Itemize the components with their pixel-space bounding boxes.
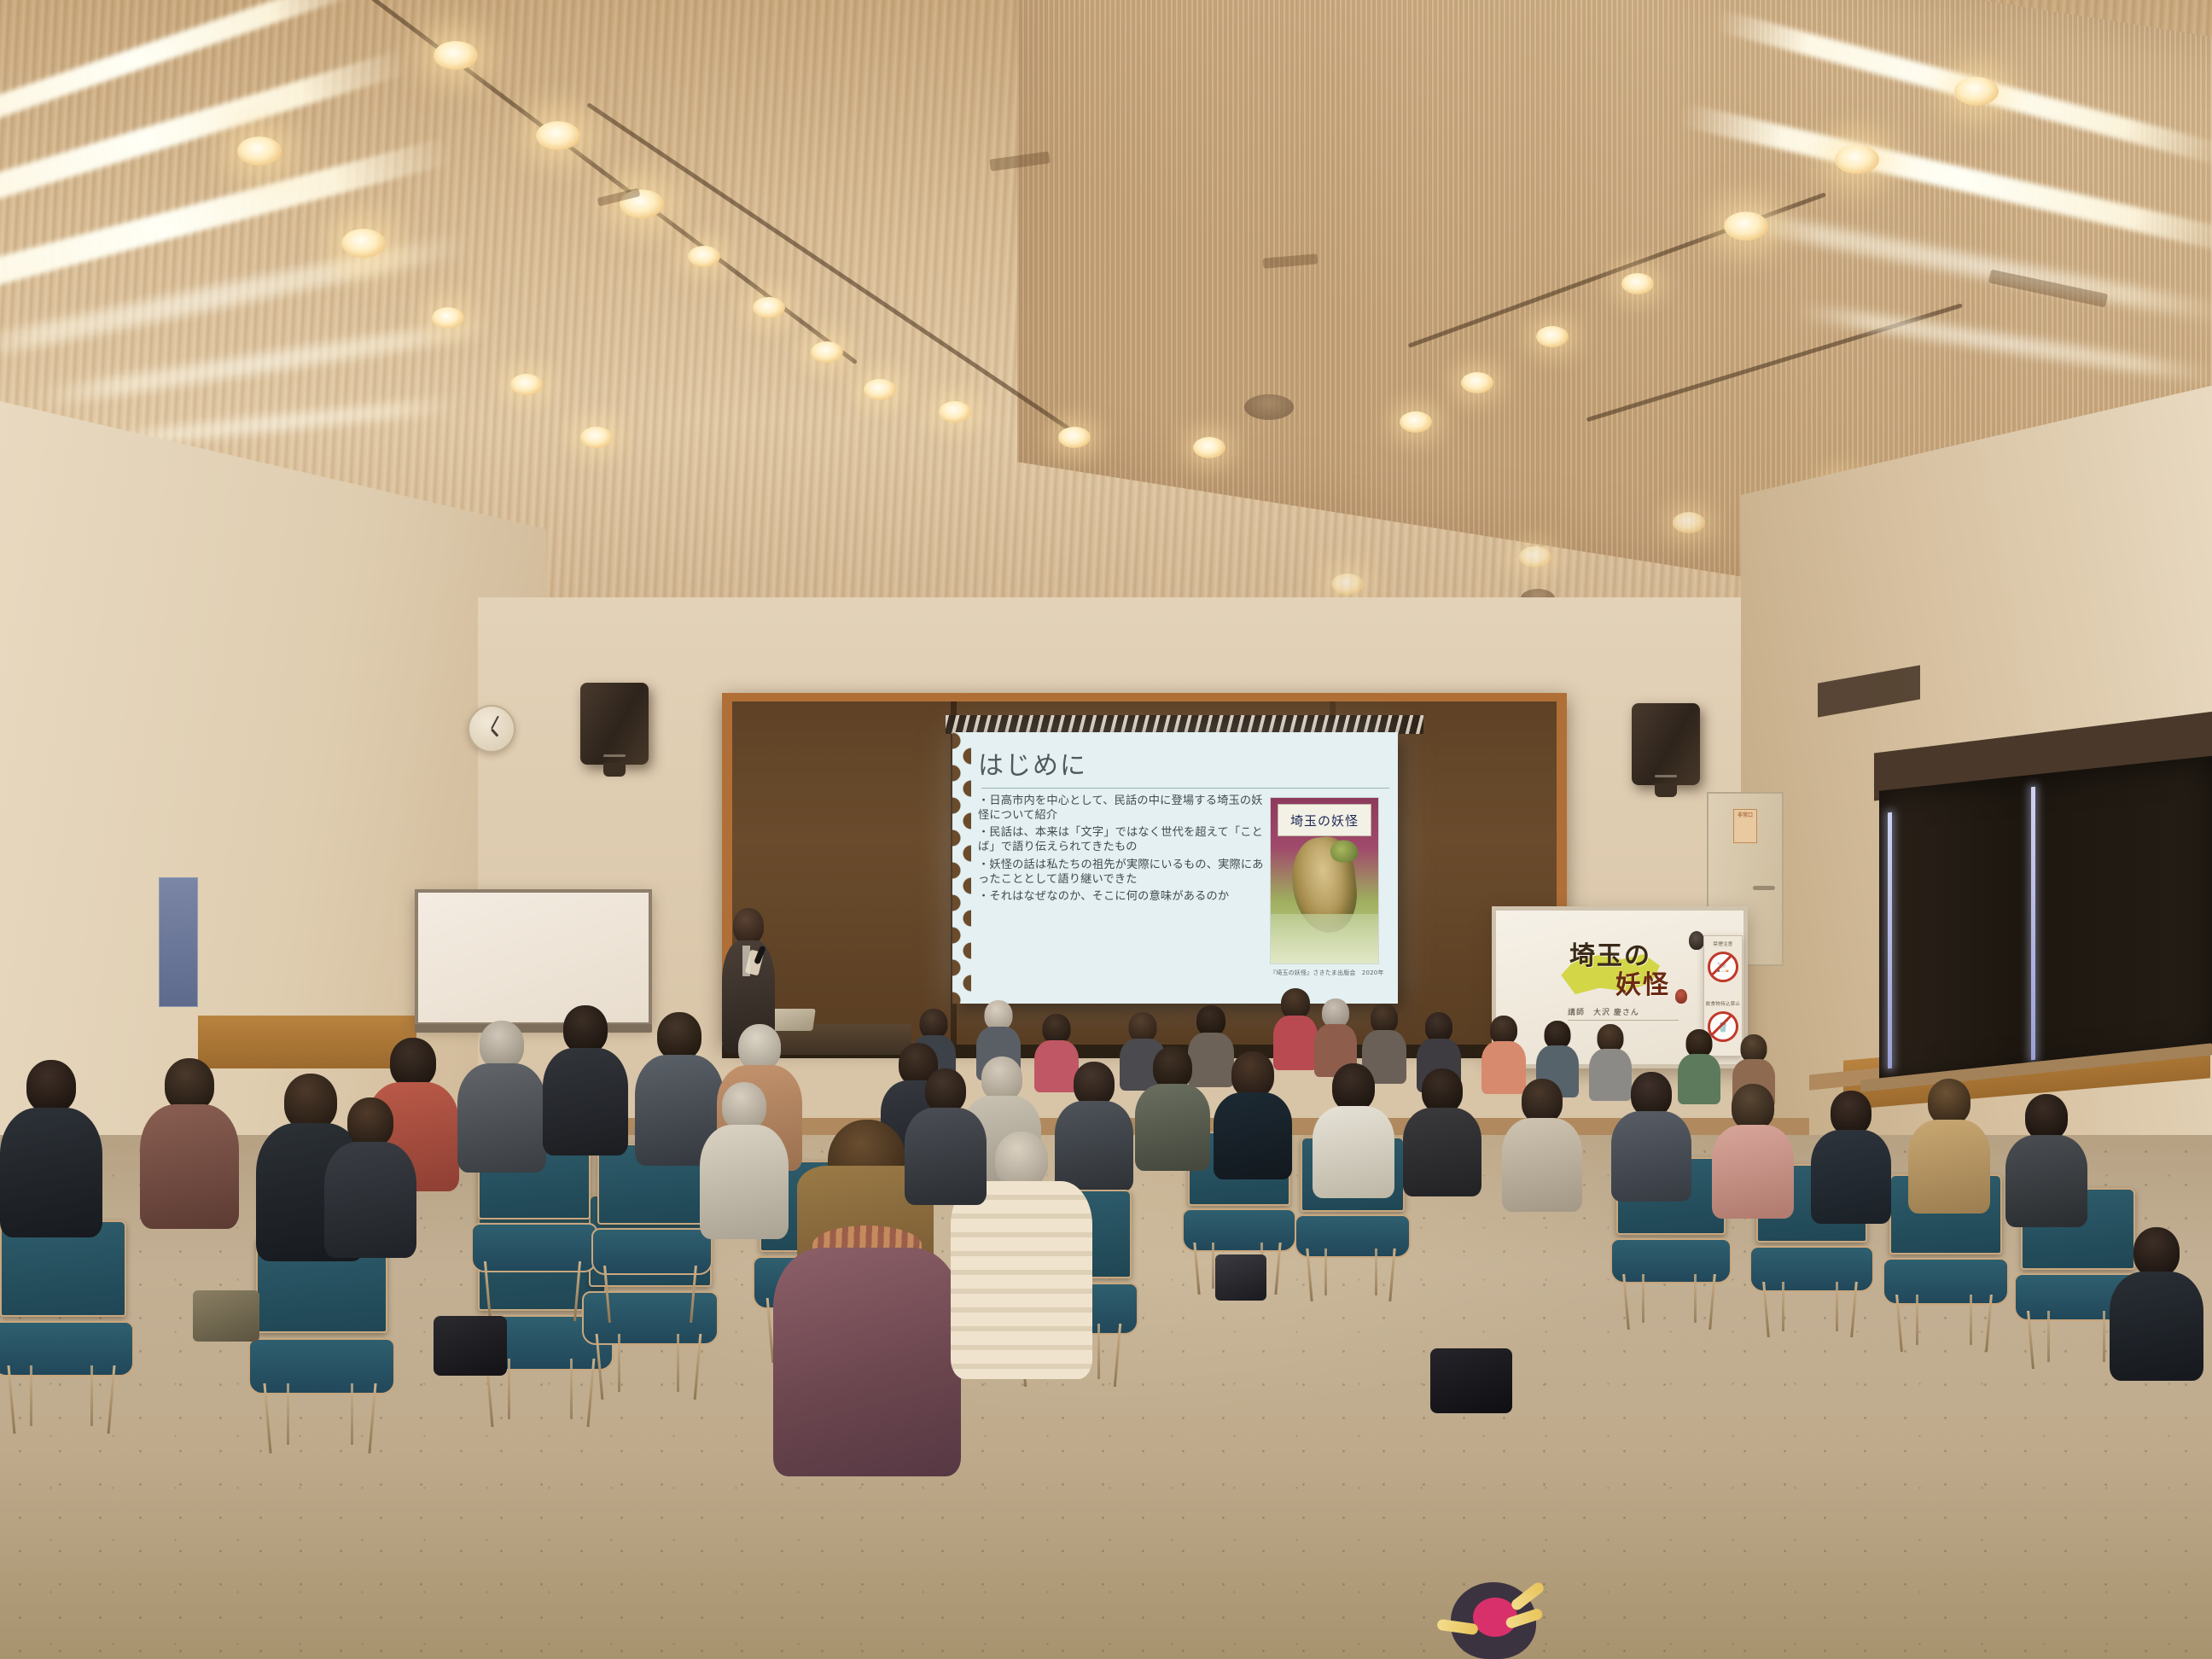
- downlight: [753, 297, 785, 318]
- blue-wall-panel: [159, 877, 198, 1007]
- wall-clock: [468, 705, 515, 753]
- floor-bag: [193, 1290, 259, 1342]
- wall-speaker-left: [580, 683, 649, 765]
- downlight: [1954, 77, 1999, 106]
- downlight: [1673, 512, 1705, 533]
- banner-figure-icon: [1675, 989, 1687, 1004]
- floor-bag: [1215, 1254, 1266, 1301]
- floor-bag: [1430, 1348, 1512, 1413]
- purple-padded-coat: [773, 1248, 961, 1476]
- downlight: [237, 137, 282, 166]
- audience-member: [1712, 1084, 1794, 1219]
- presenter-head: [733, 908, 764, 944]
- window-light-gap: [2031, 787, 2035, 1061]
- audience-member: [1611, 1072, 1691, 1202]
- banner-subtitle: 講師 大沢 慶さん: [1568, 1006, 1679, 1021]
- downlight: [1400, 411, 1432, 433]
- slide-book-figure: 埼玉の妖怪 『埼玉の妖怪』さきたま出版会 2020年: [1270, 794, 1389, 977]
- downlight: [688, 246, 720, 267]
- window-curtain[interactable]: [1879, 755, 2212, 1089]
- downlight: [1835, 145, 1879, 174]
- screen-roller-rail: [946, 715, 1423, 734]
- slide-bullet-list: ・日高市内を中心として、民話の中に登場する埼玉の妖怪について紹介 ・民話は、本来…: [978, 794, 1265, 977]
- slide-title-rule: [981, 788, 1389, 789]
- no-smoking-icon: 🚬: [1708, 952, 1738, 982]
- speaker-mount: [603, 763, 626, 777]
- chair[interactable]: [256, 1236, 384, 1441]
- downlight: [536, 121, 580, 150]
- sign-label: 飲食物持込禁止: [1704, 996, 1742, 1007]
- downlight: [1058, 427, 1091, 448]
- exit-sign: 非常口: [1733, 809, 1757, 843]
- speaker-mount: [1655, 783, 1677, 797]
- audience-member: [1214, 1051, 1292, 1179]
- downlight: [341, 229, 386, 258]
- floor-bag: [434, 1316, 507, 1376]
- slide-bullet: ・それはなぜなのか、そこに何の意味があるのか: [978, 889, 1265, 904]
- downlight: [1621, 273, 1654, 294]
- downlight: [1193, 437, 1225, 458]
- ceiling-speaker-dome: [1244, 394, 1294, 420]
- projection-screen: はじめに ・日高市内を中心として、民話の中に登場する埼玉の妖怪について紹介 ・民…: [952, 732, 1398, 1004]
- audience-member: [1135, 1046, 1210, 1171]
- downlight: [1461, 372, 1493, 393]
- slide-bullet: ・日高市内を中心として、民話の中に登場する埼玉の妖怪について紹介: [978, 794, 1265, 823]
- book-cover-ground: [1271, 914, 1378, 963]
- book-cover-image: 埼玉の妖怪: [1270, 797, 1379, 964]
- sign-no-smoking: 禁煙注意 🚬: [1704, 936, 1742, 996]
- downlight: [939, 401, 971, 422]
- chair[interactable]: [597, 1144, 703, 1313]
- audience-member: [1313, 1063, 1394, 1198]
- banner-figure-icon: [1689, 931, 1704, 950]
- audience-member: [0, 1060, 102, 1237]
- clock-hour-hand: [491, 728, 499, 736]
- audience-member: [2005, 1094, 2087, 1227]
- slide-bullet: ・妖怪の話は私たちの祖先が実際にいるもの、実際にあったこととして語り継いできた: [978, 858, 1265, 887]
- downlight: [432, 307, 464, 329]
- window-light-gap: [1888, 812, 1892, 1069]
- audience-member: [1403, 1068, 1481, 1196]
- slide-title: はじめに: [978, 744, 1389, 782]
- cigarette-glyph: 🚬: [1717, 961, 1730, 973]
- book-cover-title: 埼玉の妖怪: [1278, 804, 1371, 836]
- downlight: [1519, 546, 1551, 568]
- audience-member: [324, 1097, 416, 1258]
- door-handle[interactable]: [1753, 886, 1775, 890]
- sign-label: 禁煙注意: [1704, 936, 1742, 947]
- presenter-shirt: [742, 946, 750, 976]
- downlight: [510, 374, 543, 395]
- chair[interactable]: [0, 1220, 123, 1422]
- audience-member: [140, 1058, 239, 1229]
- audience-member: [1502, 1079, 1582, 1212]
- banner-title-line2: 妖怪: [1615, 963, 1670, 1001]
- audience-member: [905, 1068, 987, 1205]
- wall-speaker-right: [1632, 703, 1700, 785]
- audience-member: [2110, 1227, 2203, 1381]
- downlight: [434, 41, 478, 70]
- book-caption: 『埼玉の妖怪』さきたま出版会 2020年: [1270, 969, 1389, 977]
- audience-member: [1811, 1091, 1891, 1224]
- downlight: [1724, 212, 1768, 241]
- audience-member: [1908, 1079, 1990, 1214]
- audience-member: [700, 1082, 789, 1239]
- downlight: [1331, 573, 1364, 595]
- audience-member: [543, 1005, 628, 1155]
- screen-torn-edge: [952, 732, 971, 1004]
- audience-member: [457, 1021, 546, 1173]
- yokai-mascot: [1442, 1569, 1545, 1659]
- downlight: [864, 379, 896, 400]
- slide-bullet: ・民話は、本来は「文字」ではなく世代を超えて「ことば」で語り伝えられてきたもの: [978, 825, 1265, 854]
- lecture-hall-scene: 非常口 はじめに ・日高市内を中心として、民話の中に登場する埼玉の妖怪について紹…: [0, 0, 2212, 1659]
- downlight: [1536, 326, 1569, 347]
- downlight: [811, 341, 843, 363]
- clock-minute-hand: [491, 716, 499, 730]
- downlight: [580, 427, 613, 448]
